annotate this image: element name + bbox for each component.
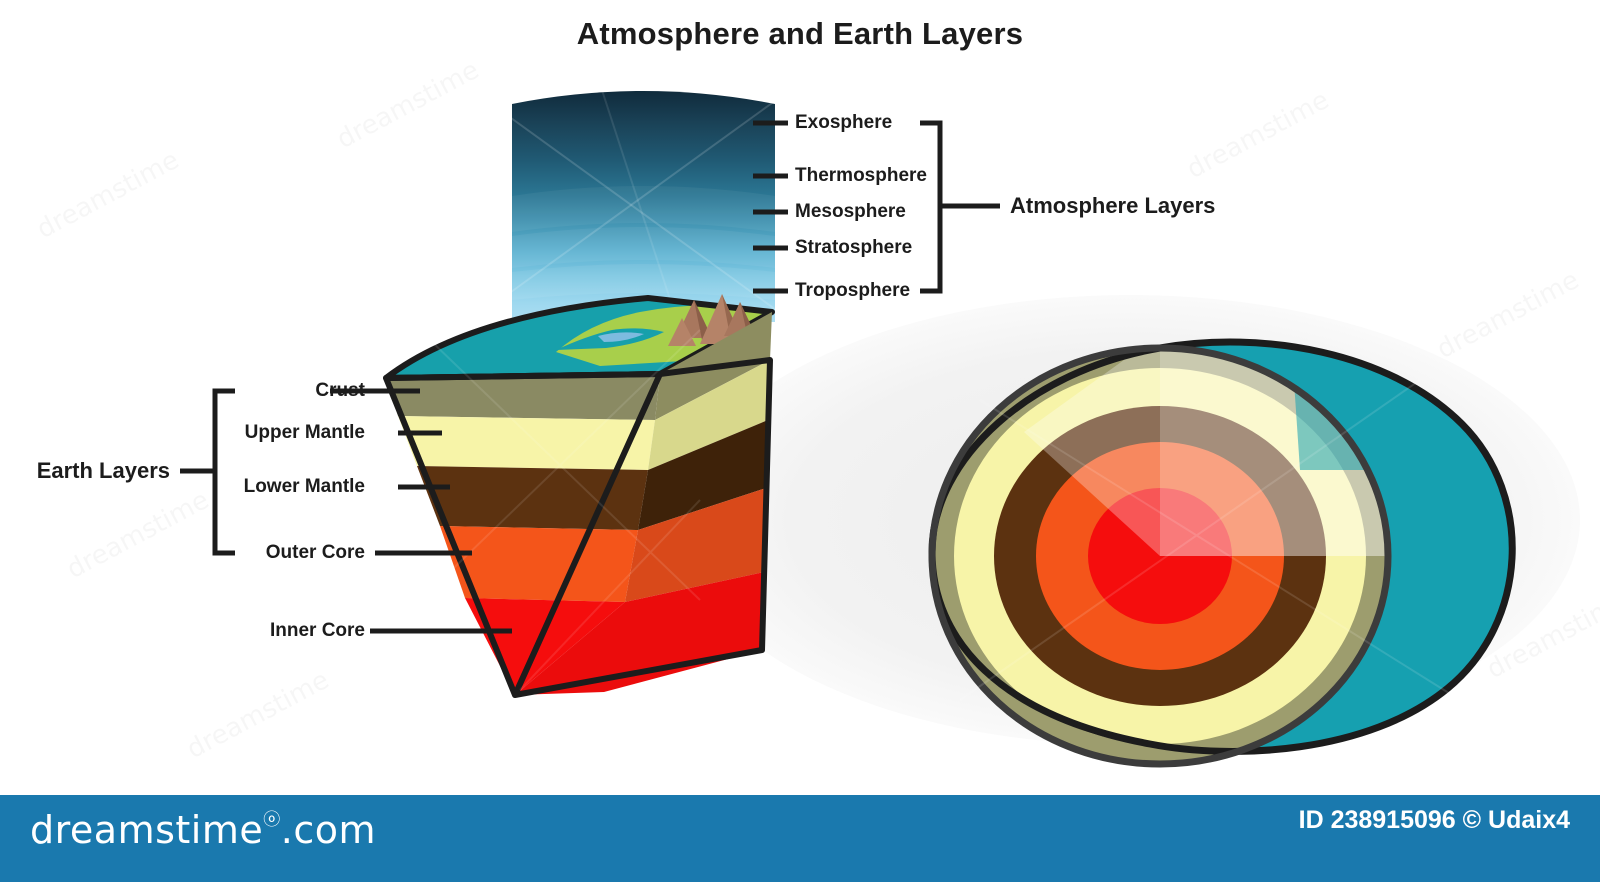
label-thermosphere: Thermosphere (795, 165, 927, 187)
group-label-atmosphere-layers: Atmosphere Layers (1010, 193, 1215, 219)
label-inner-core: Inner Core (270, 620, 365, 642)
label-crust: Crust (315, 380, 365, 402)
earth-bracket (180, 391, 235, 553)
label-stratosphere: Stratosphere (795, 237, 912, 259)
registered-mark-icon: ⓞ (263, 810, 281, 830)
footer-credit: ID 238915096 © Udaix4 (1299, 806, 1570, 835)
group-label-earth-layers: Earth Layers (37, 458, 170, 484)
diagram-canvas: Atmosphere and Earth Layers (0, 0, 1600, 882)
label-lower-mantle: Lower Mantle (244, 476, 365, 498)
label-upper-mantle: Upper Mantle (245, 422, 365, 444)
label-mesosphere: Mesosphere (795, 201, 906, 223)
label-outer-core: Outer Core (266, 542, 365, 564)
earth-wedge (386, 294, 772, 695)
atmosphere-bracket (920, 123, 1000, 291)
label-troposphere: Troposphere (795, 280, 910, 302)
dreamstime-logo-suffix: .com (281, 808, 376, 852)
dreamstime-logo: dreamstimeⓞ.com (30, 808, 376, 852)
globe-cutaway (932, 334, 1512, 764)
dreamstime-logo-word: dreamstime (30, 808, 263, 852)
atmosphere-column (500, 84, 790, 330)
label-exosphere: Exosphere (795, 112, 892, 134)
